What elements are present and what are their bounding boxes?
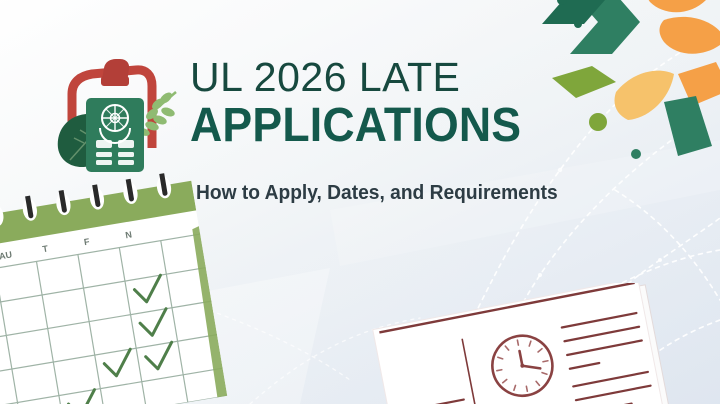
banner-subtitle: How to Apply, Dates, and Requirements (196, 180, 603, 206)
headline-block: UL 2026 LATE APPLICATIONS How to Apply, … (190, 54, 620, 206)
calendar-day-label: N (125, 229, 133, 240)
document-with-clock-icon (370, 283, 680, 404)
promo-banner: M AU T F N (0, 0, 720, 404)
clipboard-document-globe-icon (44, 56, 194, 178)
title-line-1: UL 2026 LATE (190, 54, 620, 100)
title-line-2: APPLICATIONS (190, 100, 590, 152)
